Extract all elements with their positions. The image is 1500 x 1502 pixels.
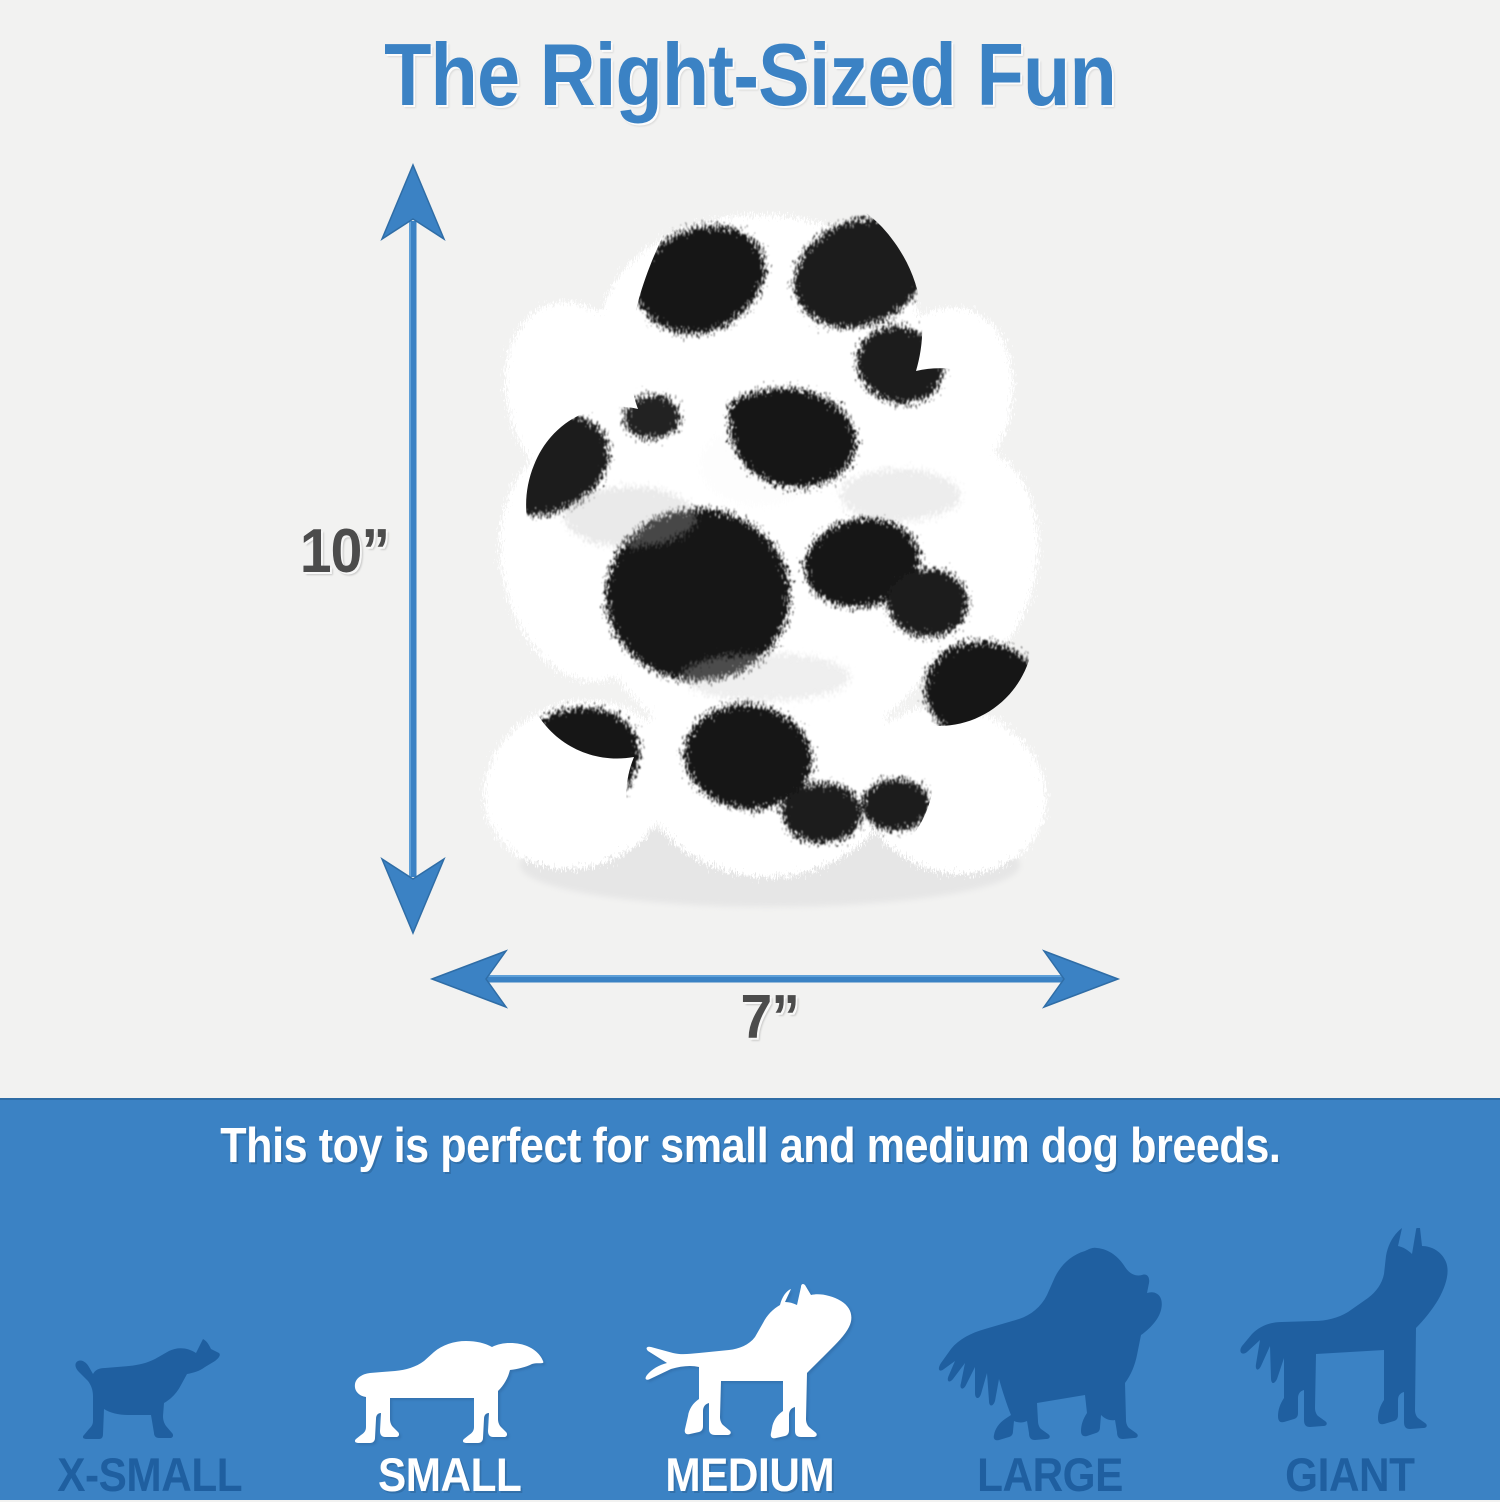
size-item-giant[interactable]: GIANT [1200,1192,1500,1502]
size-label-x-small: X-SMALL [47,1447,252,1502]
size-item-large[interactable]: LARGE [900,1192,1200,1502]
page-title: The Right-Sized Fun [90,24,1410,126]
height-dimension-label: 10” [300,516,389,587]
bull-terrier-silhouette-icon [643,1283,858,1443]
size-item-medium[interactable]: MEDIUM [600,1192,900,1502]
product-size-panel: The Right-Sized Fun [0,0,1500,1098]
size-label-large: LARGE [969,1447,1131,1502]
chihuahua-silhouette-icon [55,1323,245,1443]
dachshund-silhouette-icon [350,1331,550,1443]
size-item-x-small[interactable]: X-SMALL [0,1192,300,1502]
size-label-medium: MEDIUM [656,1447,844,1502]
golden-retriever-silhouette-icon [935,1243,1165,1443]
size-suitability-banner: This toy is perfect for small and medium… [0,1098,1500,1500]
width-dimension-label: 7” [0,982,1500,1053]
size-label-giant: GIANT [1278,1447,1422,1502]
size-scale-row: X-SMALL SMALL MEDIUM [0,1192,1500,1502]
size-label-small: SMALL [370,1447,529,1502]
size-item-small[interactable]: SMALL [300,1192,600,1502]
great-dane-silhouette-icon [1238,1228,1463,1443]
product-image [430,165,1110,925]
banner-heading: This toy is perfect for small and medium… [0,1118,1500,1174]
